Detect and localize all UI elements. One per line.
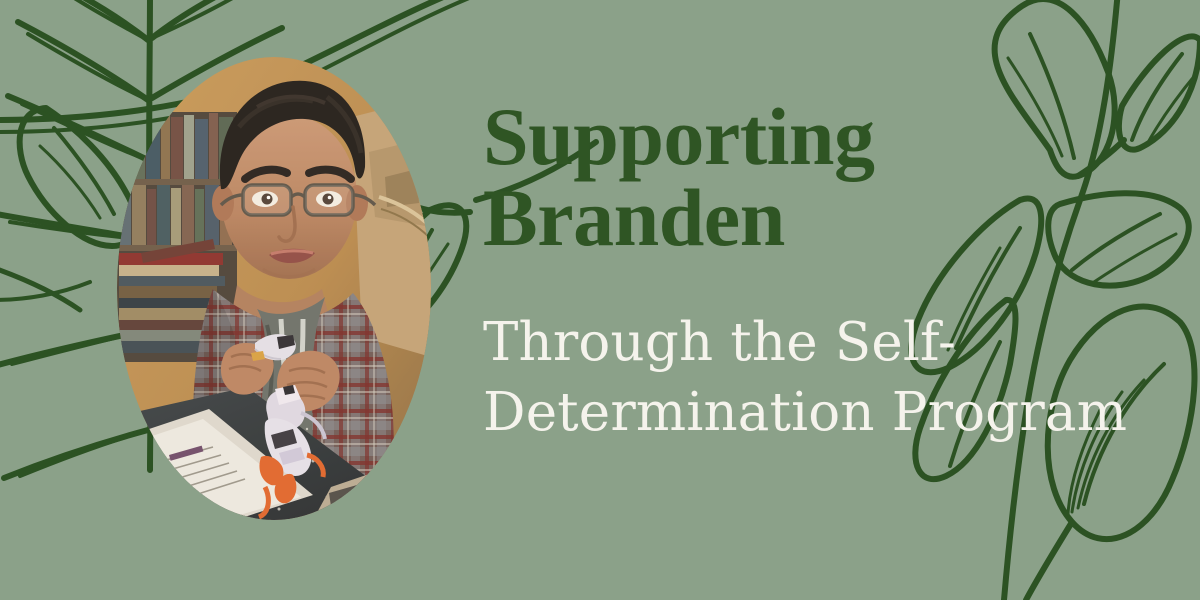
headline-line-1: Supporting bbox=[483, 96, 1103, 177]
subtitle: Through the Self- Determination Program bbox=[483, 308, 1103, 448]
subtitle-line-1: Through the Self- bbox=[483, 308, 1103, 378]
headline-line-2: Branden bbox=[483, 177, 1103, 258]
leaf-sprig-small-icon bbox=[0, 268, 90, 310]
headline: Supporting Branden bbox=[483, 96, 1103, 258]
branden-photo bbox=[117, 57, 431, 520]
subtitle-line-2: Determination Program bbox=[483, 378, 1103, 448]
flyer-canvas: Supporting Branden Through the Self- Det… bbox=[0, 0, 1200, 600]
leaf-branch-icon bbox=[911, 0, 1200, 600]
